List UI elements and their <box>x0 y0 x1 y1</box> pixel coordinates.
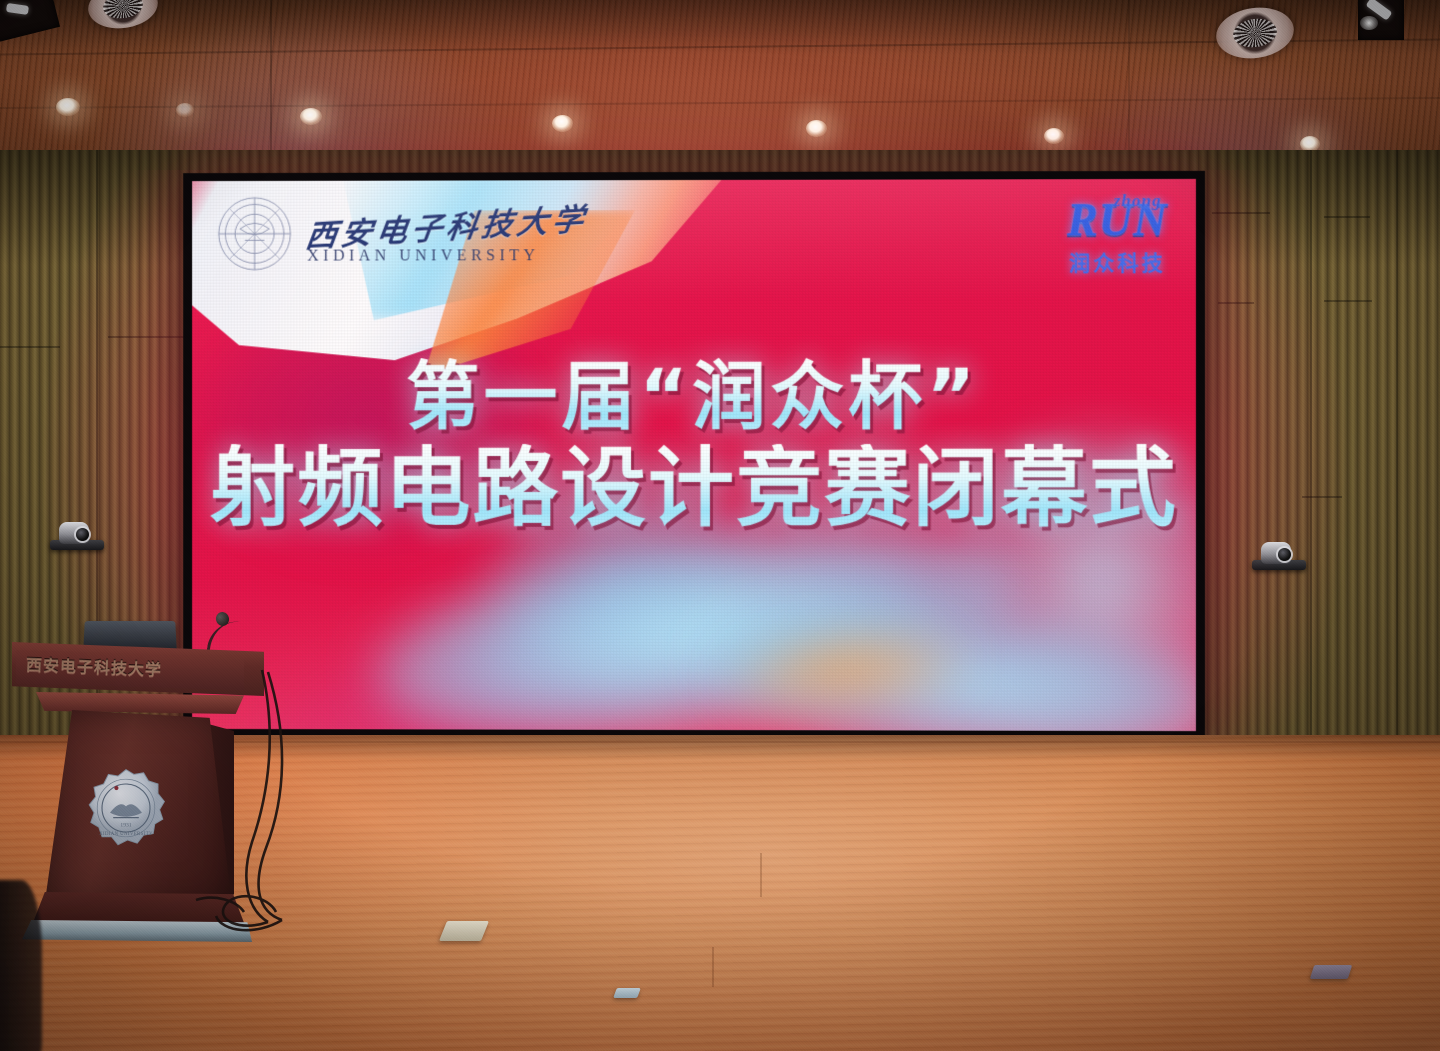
wall-joint <box>1396 150 1398 790</box>
foreground-silhouette <box>0 880 42 1051</box>
podium-plinth <box>22 920 252 942</box>
sponsor-logo: zhong RUN 润众科技 <box>1067 193 1168 277</box>
camera-body <box>59 522 89 544</box>
floor-outlet-box <box>439 921 489 941</box>
xidian-university-logo: 西安电子科技大学 XIDIAN UNIVERSITY <box>214 192 586 274</box>
spotlight-icon <box>6 3 29 15</box>
sponsor-pinyin: zhong <box>1114 191 1162 211</box>
wall-nick <box>1212 212 1270 214</box>
ceiling-seam <box>0 97 1440 109</box>
xidian-seal-icon <box>214 193 295 275</box>
floor-outlet-box <box>1310 965 1353 979</box>
led-video-wall: 西安电子科技大学 XIDIAN UNIVERSITY zhong RUN 润众科… <box>183 171 1205 740</box>
downlight-icon <box>176 103 194 117</box>
xidian-emblem-icon: 1931 XIDIAN UNIVERSITY <box>86 768 166 848</box>
camera-body <box>1261 542 1291 564</box>
ptz-camera-right <box>1252 540 1312 574</box>
slide-title: 第一届“润众杯” 射频电路设计竞赛闭幕式 <box>192 358 1196 536</box>
right-wall <box>1198 150 1440 790</box>
led-screen-surface: 西安电子科技大学 XIDIAN UNIVERSITY zhong RUN 润众科… <box>192 179 1196 731</box>
camera-lens-icon <box>76 528 89 541</box>
university-name-en: XIDIAN UNIVERSITY <box>307 248 586 264</box>
auditorium-photo: 西安电子科技大学 XIDIAN UNIVERSITY zhong RUN 润众科… <box>0 0 1440 1051</box>
floor-seam <box>712 947 714 987</box>
wall-joint <box>1310 150 1312 790</box>
podium: 西安电子科技大学 1931 XIDIAN U <box>8 620 270 950</box>
ceiling-light-slot <box>1358 0 1404 40</box>
downlight-icon <box>56 98 80 116</box>
wall-nick <box>1302 496 1342 498</box>
wall-nick <box>108 336 186 338</box>
floor-seam <box>760 853 762 897</box>
svg-text:XIDIAN UNIVERSITY: XIDIAN UNIVERSITY <box>99 832 153 837</box>
ptz-camera-left <box>50 520 110 554</box>
sponsor-name-cn: 润众科技 <box>1067 247 1168 277</box>
downlight-icon <box>1044 128 1064 144</box>
university-name-cn: 西安电子科技大学 <box>304 204 590 252</box>
wall-nick <box>1218 302 1254 304</box>
slide-title-line2: 射频电路设计竞赛闭幕式 <box>192 444 1196 536</box>
downlight-icon <box>300 108 322 125</box>
wall-nick <box>0 346 60 348</box>
university-name-block: 西安电子科技大学 XIDIAN UNIVERSITY <box>307 202 586 264</box>
podium-lip <box>36 692 244 714</box>
downlight-icon <box>806 120 827 137</box>
downlight-icon <box>552 115 573 132</box>
camera-lens-icon <box>1278 548 1291 561</box>
wall-nick <box>1324 216 1370 218</box>
spotlight-beam <box>1360 16 1378 30</box>
slide-title-line1: 第一届“润众杯” <box>192 358 1196 437</box>
svg-text:1931: 1931 <box>120 822 131 828</box>
wall-nick <box>1324 300 1372 302</box>
floor-outlet-box <box>613 988 641 998</box>
